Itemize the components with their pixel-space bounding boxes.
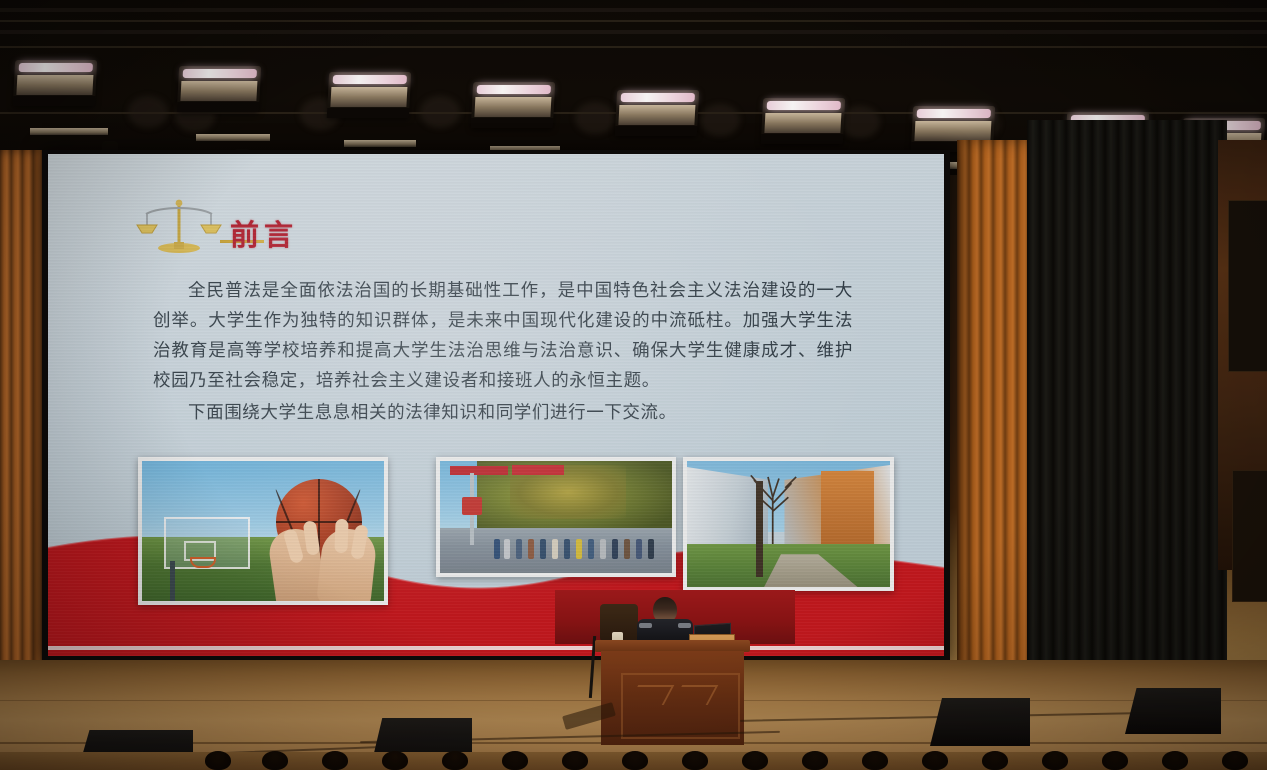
campus-photo — [683, 457, 894, 591]
slide-title: 前言 — [230, 212, 298, 254]
left-curtain — [0, 150, 48, 695]
spotlight-can-blur — [575, 102, 615, 134]
par-bar-light — [471, 82, 555, 128]
spotlight-can-blur — [420, 96, 460, 128]
slide-paragraph-1: 全民普法是全面依法治国的长期基础性工作，是中国特色社会主义法治建设的一大创举。大… — [153, 276, 853, 396]
podium — [595, 640, 750, 745]
red-banner — [512, 465, 564, 475]
stage-monitor-far-right — [1125, 688, 1221, 734]
slide-bottom-strip — [48, 646, 944, 650]
par-bar-light — [327, 72, 411, 118]
par-bar-light — [615, 90, 699, 136]
strip-light — [344, 140, 416, 147]
scales-of-justice-icon — [136, 198, 222, 260]
strip-light — [30, 128, 108, 135]
slide-paragraph-2: 下面围绕大学生息息相关的法律知识和同学们进行一下交流。 — [153, 398, 853, 428]
par-bar-light — [177, 66, 261, 112]
right-wall-frame — [1228, 200, 1267, 372]
par-bar-light — [761, 98, 845, 144]
slide-body: 全民普法是全面依法治国的长期基础性工作，是中国特色社会主义法治建设的一大创举。大… — [153, 276, 853, 430]
right-curtain-orange — [957, 140, 1029, 693]
strip-light — [196, 134, 270, 141]
spotlight-can-blur — [840, 106, 880, 138]
auditorium-scene: 前言 全民普法是全面依法治国的长期基础性工作，是中国特色社会主义法治建设的一大创… — [0, 0, 1267, 770]
stage-monitor-right — [930, 698, 1030, 746]
par-bar-light — [13, 60, 97, 106]
running-photo — [436, 457, 676, 577]
basketball-photo — [138, 457, 388, 605]
podium-panel — [621, 673, 740, 739]
red-banner — [450, 466, 508, 475]
right-curtain-dark — [1027, 120, 1227, 695]
right-wall-frame-lower — [1232, 470, 1267, 602]
led-screen[interactable]: 前言 全民普法是全面依法治国的长期基础性工作，是中国特色社会主义法治建设的一大创… — [48, 154, 944, 656]
podium-body — [601, 651, 744, 745]
spotlight-can-blur — [700, 104, 740, 136]
bare-tree-icon — [724, 466, 821, 544]
spotlight-can-blur — [128, 96, 168, 128]
